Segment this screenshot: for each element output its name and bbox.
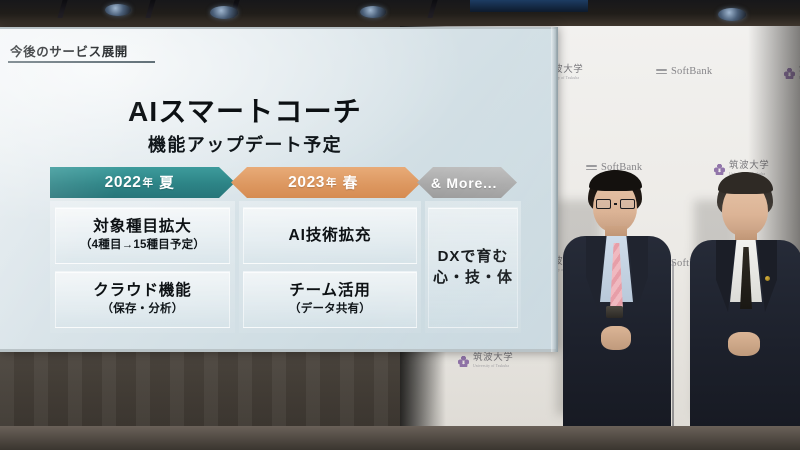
- stage-light: [718, 8, 746, 21]
- card-dx-growth: DXで育む 心・技・体: [428, 207, 518, 328]
- card-ai-expansion-title: AI技術拡充: [289, 227, 372, 245]
- card-cloud-function: クラウド機能 （保存・分析）: [55, 271, 230, 328]
- glasses-lens-right: [620, 199, 635, 209]
- softbank-mark-icon: [586, 164, 597, 172]
- card-cloud-function-sub: （保存・分析）: [102, 303, 184, 316]
- timeline-band-2023-label: 2023年 春: [231, 167, 421, 198]
- glasses-bridge: [614, 203, 617, 205]
- tsukuba-wordmark: 筑波大学University of Tsukuba: [473, 354, 513, 368]
- presenter-left-mic-pack: [606, 306, 623, 318]
- card-dx-growth-title: DXで育む 心・技・体: [433, 247, 513, 288]
- slide-title: AIスマートコーチ: [0, 90, 490, 130]
- slide-subtitle: 機能アップデート予定: [0, 131, 490, 157]
- timeline-band-2022: 2022年 夏: [50, 167, 235, 198]
- card-team-usage-title: チーム活用: [289, 282, 371, 300]
- mic-stand: [672, 262, 674, 426]
- softbank-logo: SoftBank: [656, 66, 712, 77]
- band-2023-year-unit: 年: [326, 175, 337, 190]
- stage-light: [360, 6, 386, 18]
- card-team-usage: チーム活用 （データ共有）: [243, 271, 417, 328]
- glasses-lens-left: [596, 199, 611, 209]
- stage-light: [105, 4, 131, 16]
- band-2022-year: 2022: [105, 174, 142, 192]
- presenter-right-hands: [728, 332, 760, 356]
- stage-floor: [0, 426, 800, 450]
- presenter-left-glasses: [596, 199, 635, 209]
- timeline-band-2023: 2023年 春: [231, 167, 421, 198]
- slide-header-underline: [8, 61, 155, 63]
- card-cloud-function-title: クラウド機能: [93, 282, 191, 300]
- lapel-pin-icon: [765, 276, 770, 281]
- band-2022-year-unit: 年: [143, 175, 154, 190]
- softbank-wordmark: SoftBank: [671, 66, 712, 77]
- band-2023-season: 春: [343, 172, 358, 193]
- card-target-events: 対象種目拡大 （4種目→15種目予定）: [55, 207, 230, 264]
- slide-header-text: 今後のサービス展開: [10, 41, 128, 60]
- ceiling-blue-panel: [470, 0, 588, 12]
- timeline-band-more-label: & More...: [417, 167, 517, 198]
- band-2023-year: 2023: [288, 174, 325, 192]
- card-target-events-sub: （4種目→15種目予定）: [80, 239, 205, 252]
- card-target-events-title: 対象種目拡大: [93, 218, 191, 236]
- tsukuba-crest-icon: [458, 356, 469, 367]
- softbank-mark-icon: [656, 68, 667, 76]
- band-2022-season: 夏: [159, 172, 174, 193]
- stage-light: [210, 6, 238, 19]
- card-ai-expansion: AI技術拡充: [243, 207, 417, 264]
- tsukuba-crest-icon: [714, 164, 725, 175]
- card-team-usage-sub: （データ共有）: [289, 303, 371, 316]
- tsukuba-name-en: University of Tsukuba: [473, 365, 513, 369]
- tsukuba-name-jp: 筑波大学: [473, 354, 513, 364]
- presentation-slide: 今後のサービス展開 AIスマートコーチ 機能アップデート予定 2022年 夏 2…: [0, 29, 556, 349]
- timeline-band-2022-label: 2022年 夏: [50, 167, 235, 198]
- video-frame: SoftBank筑波大学University of TsukubaSoftBan…: [0, 0, 800, 450]
- tsukuba-university-logo: 筑波大学University of Tsukuba: [458, 354, 513, 368]
- timeline-band-more: & More...: [417, 167, 517, 198]
- projection-screen-right-edge: [551, 27, 558, 352]
- presenter-left-hands: [601, 326, 631, 350]
